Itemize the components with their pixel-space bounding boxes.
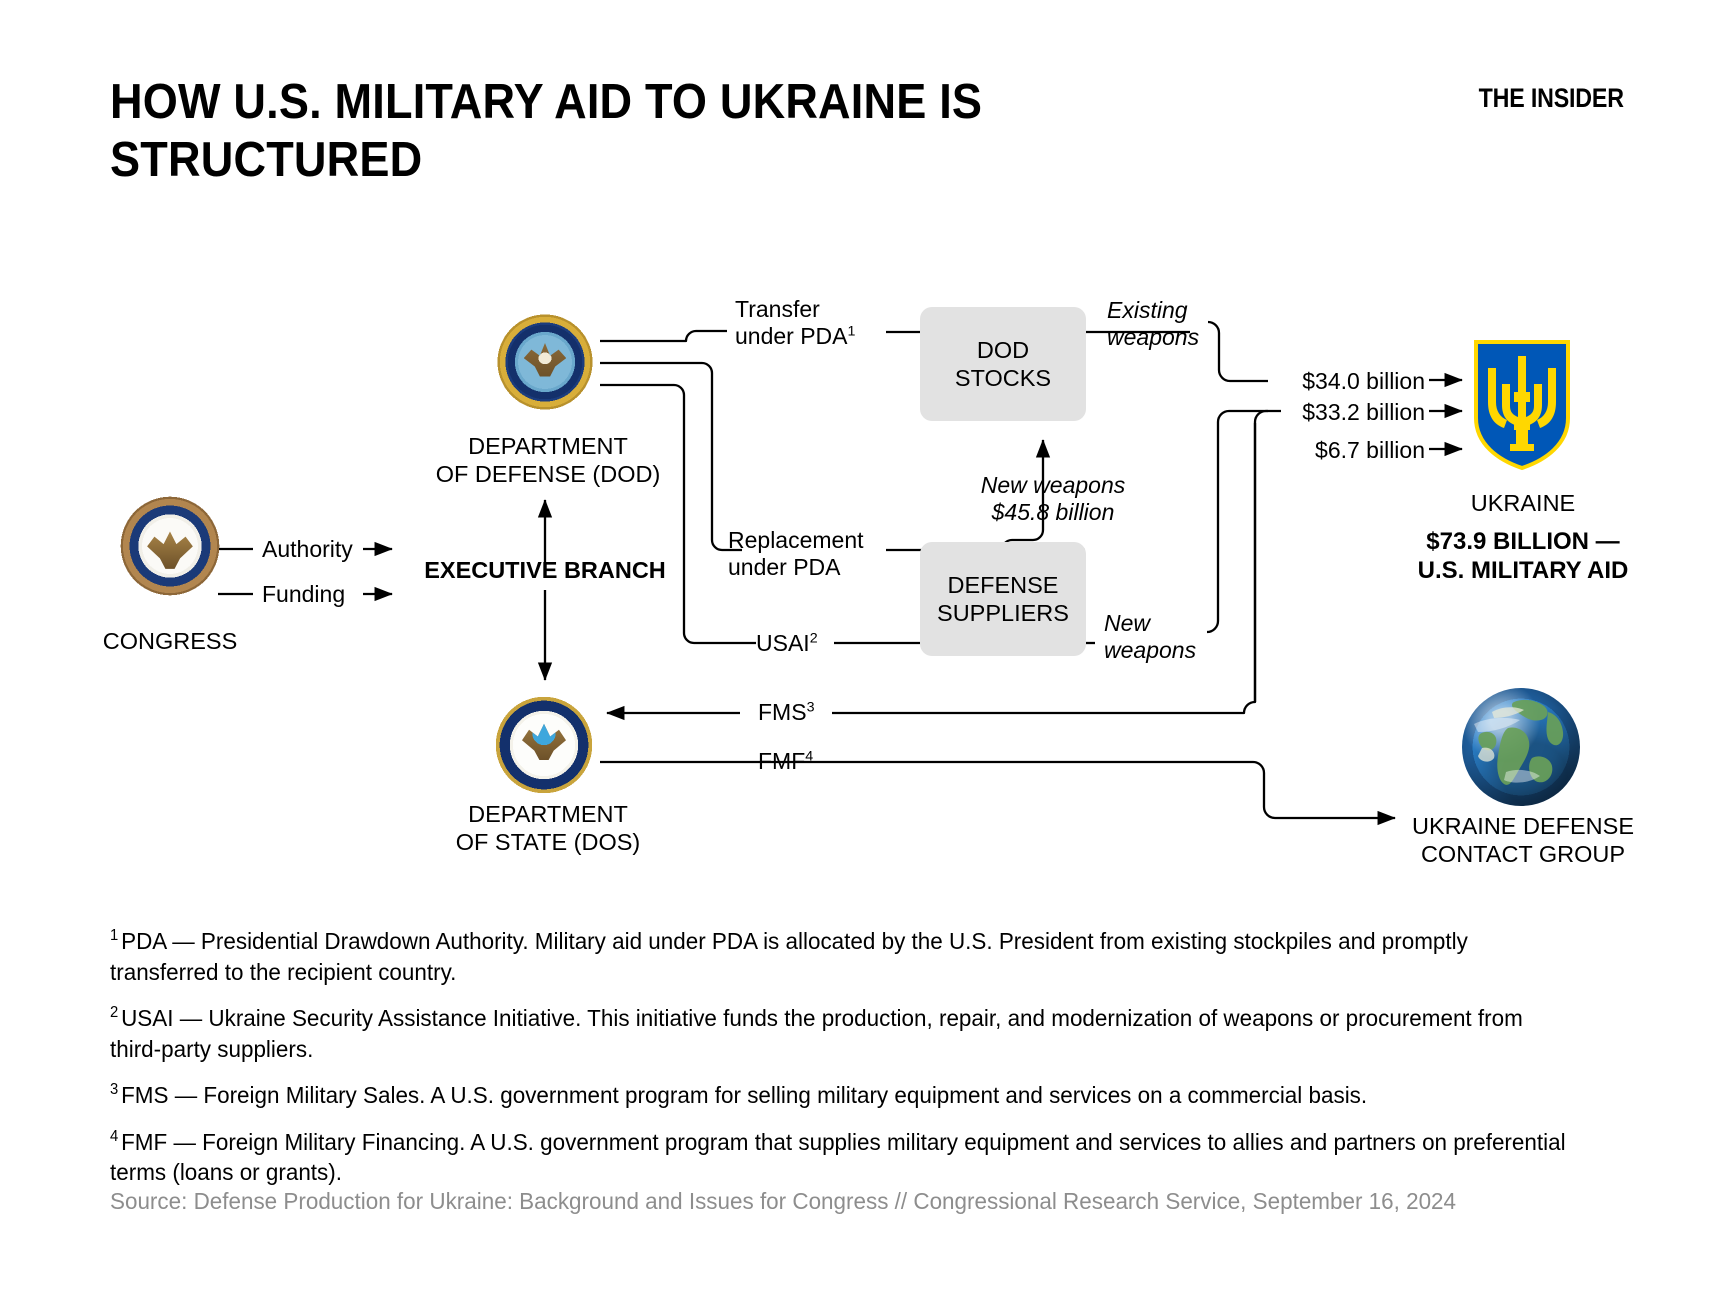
ukraine-defense-contact-group-label: UKRAINE DEFENSE CONTACT GROUP bbox=[1368, 812, 1678, 868]
flow-fmf-label: FMF4 bbox=[758, 748, 858, 775]
source-credit: Source: Defense Production for Ukraine: … bbox=[110, 1188, 1600, 1215]
flow-replacement-pda-label: Replacement under PDA bbox=[728, 527, 888, 581]
footnote-4-text: FMF — Foreign Military Financing. A U.S.… bbox=[110, 1129, 1566, 1186]
page-title: HOW U.S. MILITARY AID TO UKRAINE IS STRU… bbox=[110, 74, 1076, 190]
flow-transfer-pda-label: Transfer under PDA1 bbox=[735, 296, 885, 350]
flow-transfer-pda-text: Transfer under PDA bbox=[735, 296, 848, 349]
existing-weapons-label: Existing weapons bbox=[1107, 297, 1257, 351]
footnote-3-marker: 3 bbox=[110, 1081, 118, 1098]
flow-usai-text: USAI bbox=[756, 630, 810, 656]
footnote-3: 3FMS — Foreign Military Sales. A U.S. go… bbox=[110, 1080, 1571, 1111]
footnote-1: 1PDA — Presidential Drawdown Authority. … bbox=[110, 926, 1571, 987]
congress-label: CONGRESS bbox=[58, 627, 282, 655]
footnote-3-text: FMS — Foreign Military Sales. A U.S. gov… bbox=[121, 1082, 1367, 1108]
ukraine-total-aid: $73.9 BILLION — U.S. MILITARY AID bbox=[1352, 527, 1694, 586]
dos-label: DEPARTMENT OF STATE (DOS) bbox=[408, 800, 688, 856]
flow-authority-label: Authority bbox=[262, 536, 366, 563]
footnote-2-marker: 2 bbox=[110, 1004, 118, 1021]
dod-stocks-box: DOD STOCKS bbox=[920, 307, 1086, 421]
footnote-1-marker: 1 bbox=[110, 927, 118, 944]
amount-existing-weapons: $34.0 billion bbox=[1200, 368, 1425, 395]
defense-suppliers-box: DEFENSE SUPPLIERS bbox=[920, 542, 1086, 656]
footnote-2-text: USAI — Ukraine Security Assistance Initi… bbox=[110, 1005, 1523, 1062]
footnote-4: 4FMF — Foreign Military Financing. A U.S… bbox=[110, 1127, 1571, 1188]
footnote-2: 2USAI — Ukraine Security Assistance Init… bbox=[110, 1003, 1571, 1064]
footnote-1-text: PDA — Presidential Drawdown Authority. M… bbox=[110, 928, 1468, 985]
infographic-page: HOW U.S. MILITARY AID TO UKRAINE IS STRU… bbox=[0, 0, 1732, 1299]
department-of-defense-seal bbox=[489, 306, 601, 418]
footnote-ref-1: 1 bbox=[848, 323, 856, 339]
footnote-ref-3: 3 bbox=[807, 699, 815, 715]
amount-fms: $6.7 billion bbox=[1200, 437, 1425, 464]
flow-fms-text: FMS bbox=[758, 699, 807, 725]
ukraine-label: UKRAINE bbox=[1370, 489, 1676, 517]
flow-fms-label: FMS3 bbox=[758, 699, 858, 726]
footnote-4-marker: 4 bbox=[110, 1128, 118, 1145]
new-weapons-right-label: New weapons bbox=[1104, 610, 1254, 664]
globe-icon bbox=[1462, 688, 1580, 806]
footnote-ref-2: 2 bbox=[810, 630, 818, 646]
amount-new-weapons: $33.2 billion bbox=[1200, 399, 1425, 426]
dod-label: DEPARTMENT OF DEFENSE (DOD) bbox=[408, 432, 688, 488]
the-insider-logo: THE INSIDER bbox=[1479, 83, 1624, 114]
footnote-ref-4: 4 bbox=[805, 748, 813, 764]
ukraine-coat-of-arms bbox=[1474, 340, 1570, 470]
us-congress-seal bbox=[118, 494, 222, 598]
flow-fmf-text: FMF bbox=[758, 748, 805, 774]
new-weapons-amount-label: New weapons $45.8 billion bbox=[948, 472, 1158, 526]
flow-usai-label: USAI2 bbox=[756, 630, 856, 657]
executive-branch-label: EXECUTIVE BRANCH bbox=[400, 556, 690, 584]
footnotes: 1PDA — Presidential Drawdown Authority. … bbox=[110, 926, 1640, 1204]
flow-funding-label: Funding bbox=[262, 581, 366, 608]
department-of-state-seal bbox=[489, 690, 599, 800]
